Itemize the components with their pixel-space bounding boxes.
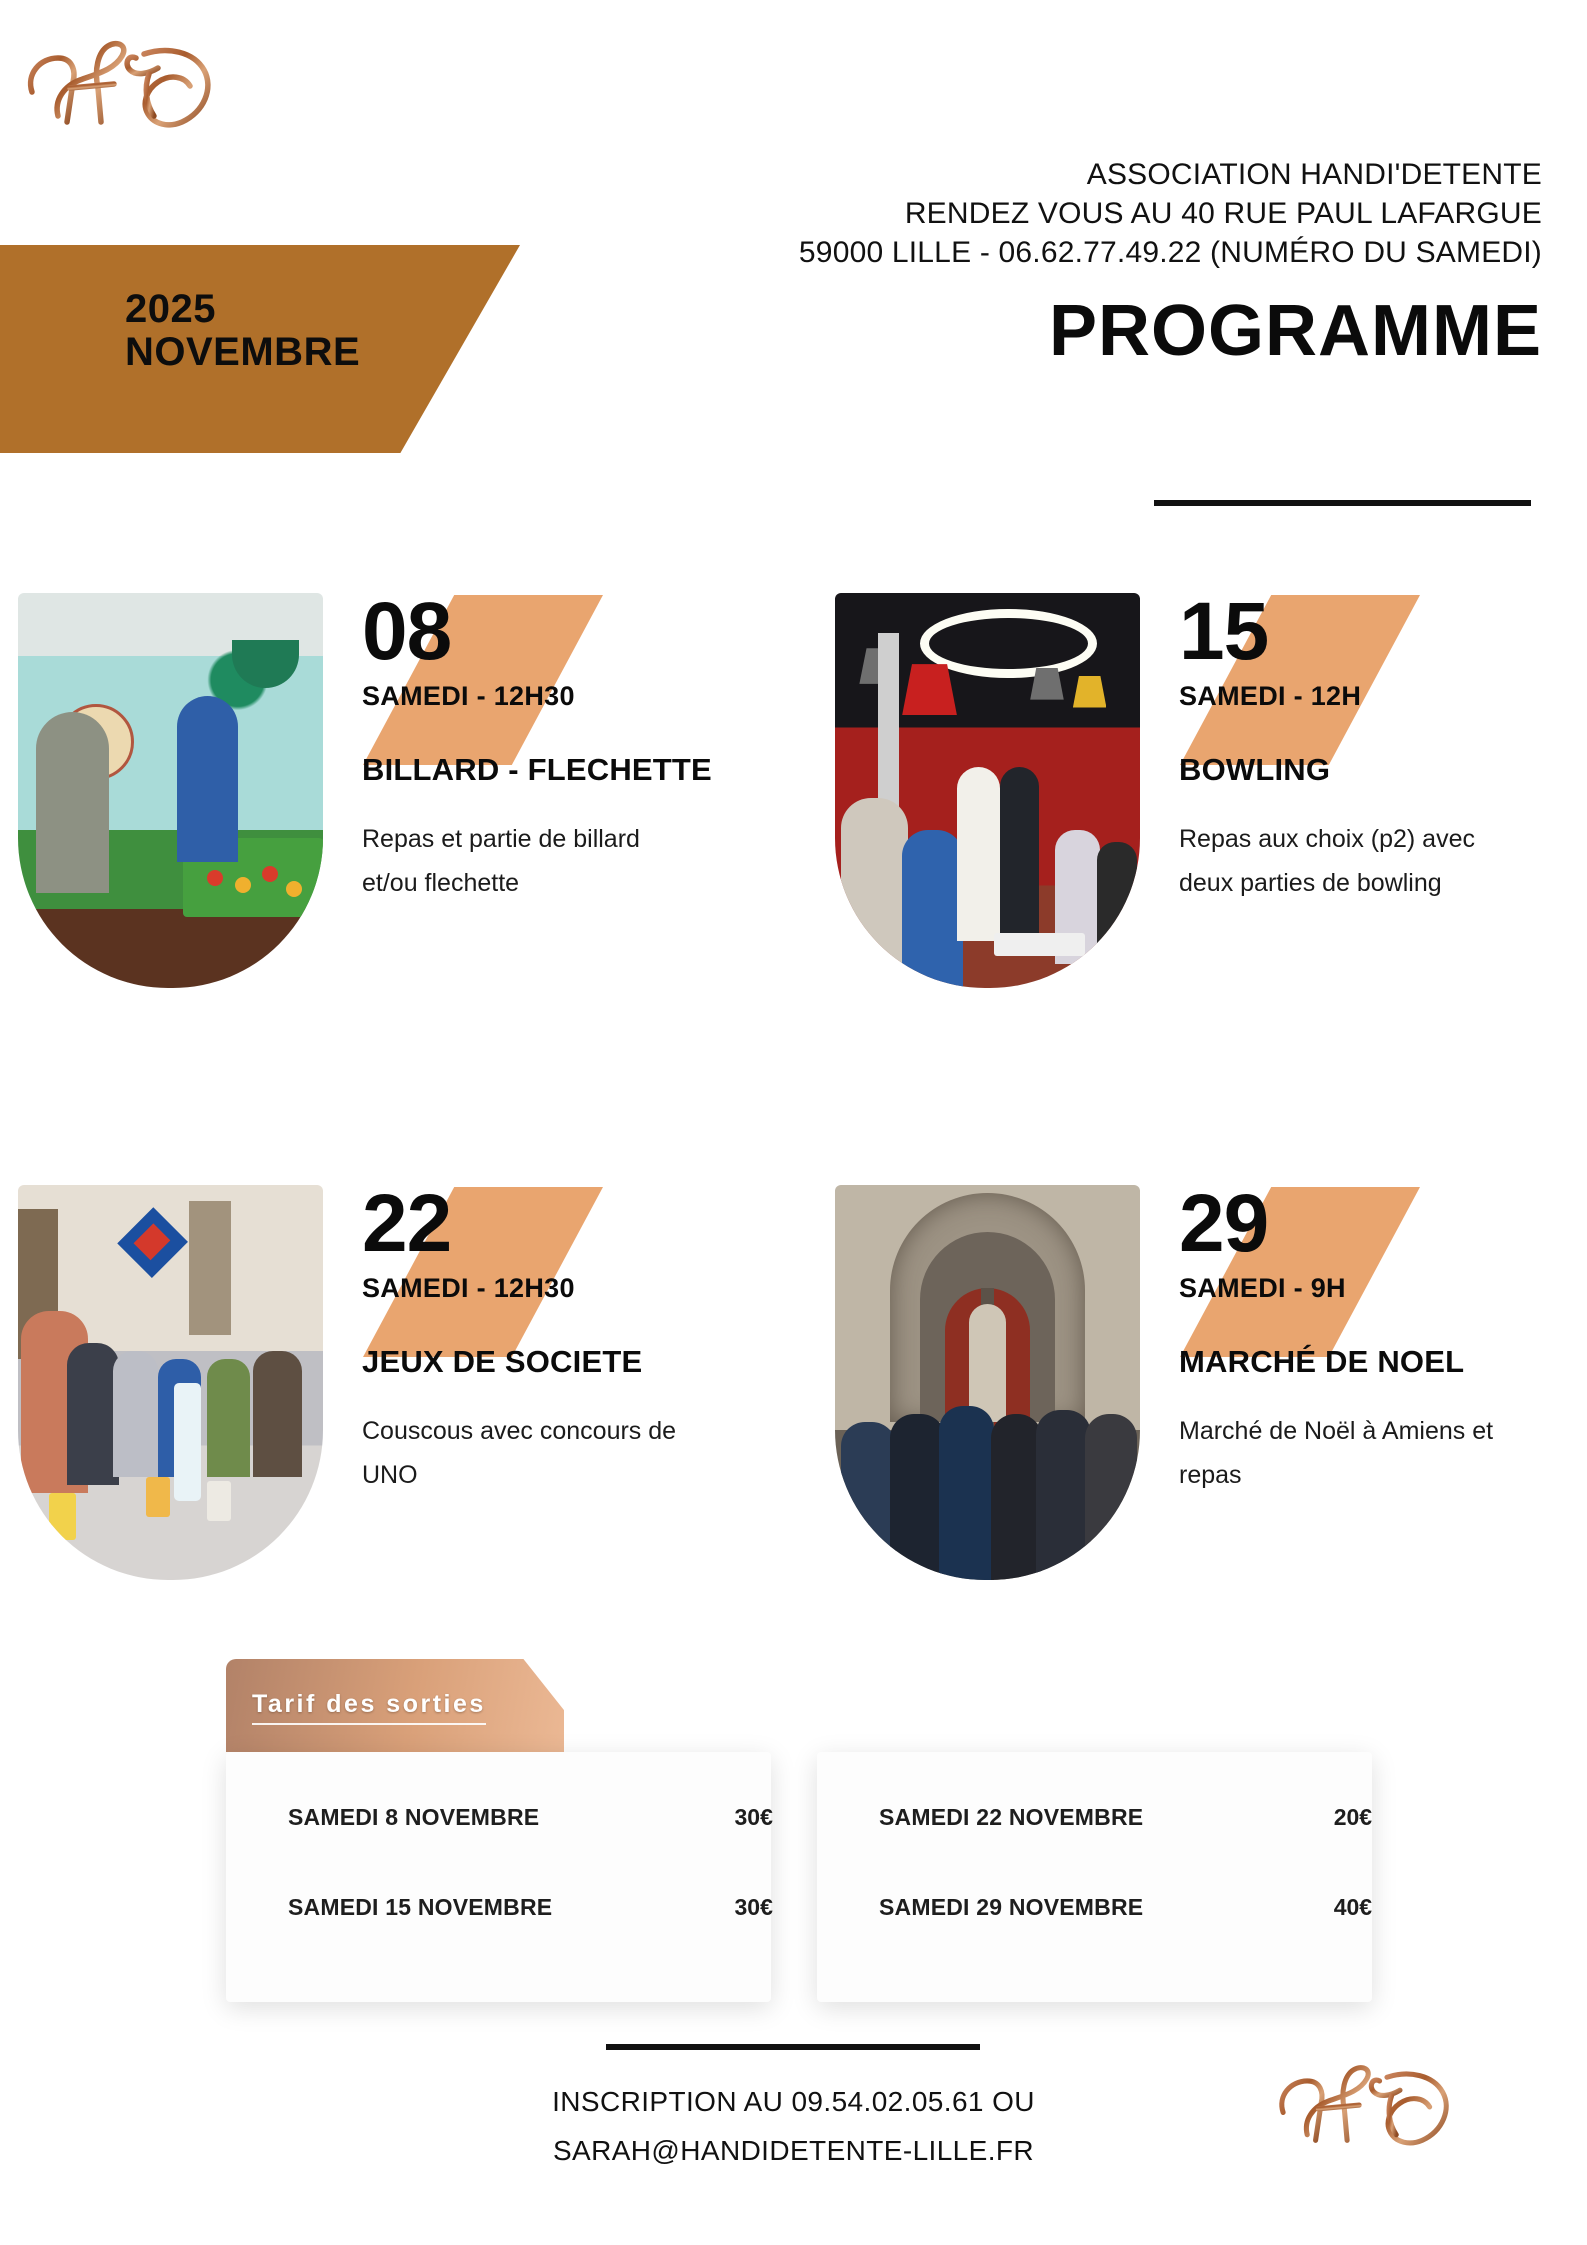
- association-line-1: ASSOCIATION HANDI'DETENTE: [782, 155, 1542, 194]
- price-amount: 20€: [1334, 1804, 1372, 1831]
- event-title: BILLARD - FLECHETTE: [362, 752, 693, 788]
- event-description: Couscous avec concours de UNO: [362, 1410, 682, 1498]
- event-description: Marché de Noël à Amiens et repas: [1179, 1410, 1499, 1498]
- association-line-3: 59000 LILLE - 06.62.77.49.22 (NUMÉRO DU …: [782, 233, 1542, 272]
- event-subtitle: SAMEDI - 9H: [1179, 1273, 1510, 1304]
- price-amount: 30€: [735, 1894, 773, 1921]
- year-text: 2025: [125, 288, 360, 331]
- page-title: PROGRAMME: [782, 295, 1542, 367]
- price-amount: 30€: [735, 1804, 773, 1831]
- event-title: BOWLING: [1179, 752, 1510, 788]
- event-description: Repas et partie de billard et/ou flechet…: [362, 818, 682, 906]
- event-subtitle: SAMEDI - 12H30: [362, 1273, 693, 1304]
- event-day: 29: [1179, 1185, 1510, 1263]
- event-title: MARCHÉ DE NOEL: [1179, 1344, 1510, 1380]
- photo-jeux-de-societe: [18, 1185, 323, 1580]
- event-day: 15: [1179, 593, 1510, 671]
- event-subtitle: SAMEDI - 12H: [1179, 681, 1510, 712]
- photo-marche-de-noel: [835, 1185, 1140, 1580]
- event-day: 22: [362, 1185, 693, 1263]
- event-description: Repas aux choix (p2) avec deux parties d…: [1179, 818, 1499, 906]
- price-label: SAMEDI 29 NOVEMBRE: [879, 1894, 1143, 1921]
- event-subtitle: SAMEDI - 12H30: [362, 681, 693, 712]
- tarif-heading: Tarif des sorties: [252, 1690, 486, 1725]
- price-row: SAMEDI 8 NOVEMBRE 30€: [288, 1804, 735, 1831]
- event-title: JEUX DE SOCIETE: [362, 1344, 693, 1380]
- photo-bowling: [835, 593, 1140, 988]
- programme-poster: 2025 NOVEMBRE ASSOCIATION HANDI'DETENTE …: [0, 0, 1587, 2245]
- month-label: 2025 NOVEMBRE: [125, 288, 360, 374]
- price-row: SAMEDI 29 NOVEMBRE 40€: [879, 1894, 1334, 1921]
- association-info: ASSOCIATION HANDI'DETENTE RENDEZ VOUS AU…: [782, 155, 1542, 272]
- hd-monogram-icon: [1270, 2055, 1465, 2157]
- price-card-left: SAMEDI 8 NOVEMBRE 30€ SAMEDI 15 NOVEMBRE…: [226, 1752, 771, 2002]
- price-label: SAMEDI 22 NOVEMBRE: [879, 1804, 1143, 1831]
- price-label: SAMEDI 8 NOVEMBRE: [288, 1804, 539, 1831]
- hd-monogram-icon: [18, 30, 228, 140]
- hd-logo-top: [18, 30, 228, 140]
- price-row: SAMEDI 22 NOVEMBRE 20€: [879, 1804, 1334, 1831]
- photo-billard: [18, 593, 323, 988]
- month-text: NOVEMBRE: [125, 331, 360, 374]
- price-amount: 40€: [1334, 1894, 1372, 1921]
- association-line-2: RENDEZ VOUS AU 40 RUE PAUL LAFARGUE: [782, 194, 1542, 233]
- event-day: 08: [362, 593, 693, 671]
- divider-top: [1154, 500, 1531, 506]
- price-row: SAMEDI 15 NOVEMBRE 30€: [288, 1894, 735, 1921]
- price-card-right: SAMEDI 22 NOVEMBRE 20€ SAMEDI 29 NOVEMBR…: [817, 1752, 1372, 2002]
- hd-logo-bottom: [1270, 2055, 1465, 2157]
- price-label: SAMEDI 15 NOVEMBRE: [288, 1894, 552, 1921]
- divider-bottom: [606, 2044, 980, 2050]
